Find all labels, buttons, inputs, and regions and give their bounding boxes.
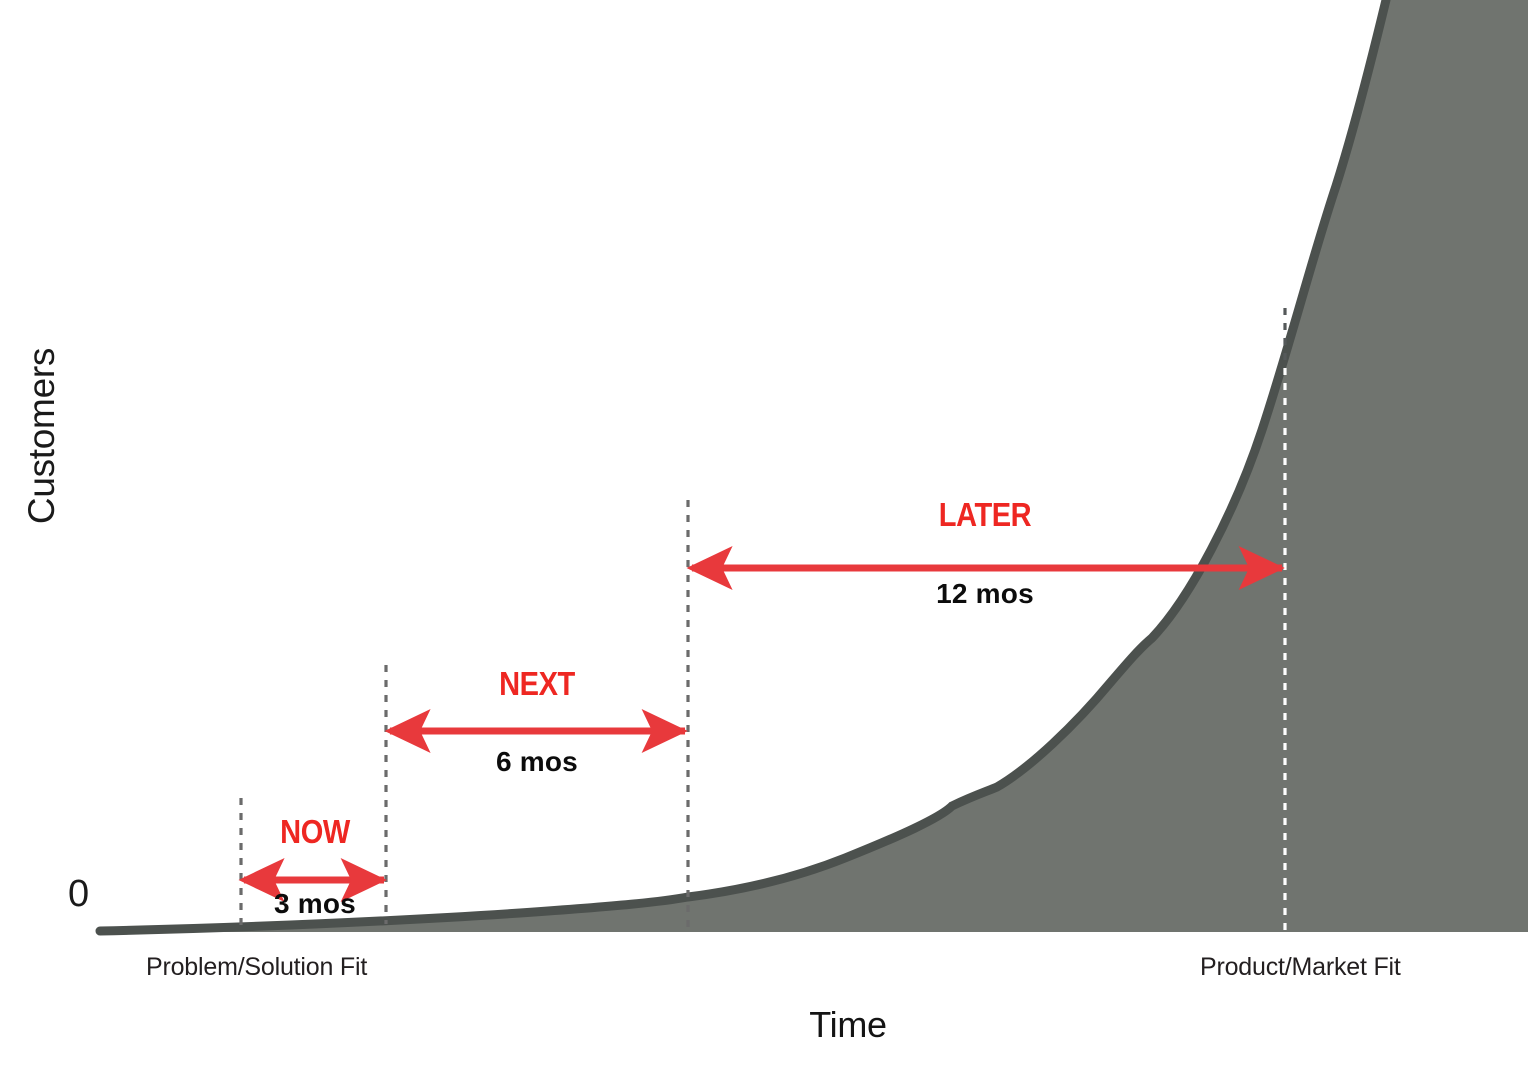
phase-title-next: NEXT xyxy=(449,665,625,703)
phase-title-later: LATER xyxy=(897,496,1073,534)
milestone-label-product-market-fit: Product/Market Fit xyxy=(1200,953,1401,982)
phase-title-now: NOW xyxy=(227,813,403,851)
y-axis-zero-tick: 0 xyxy=(68,873,89,916)
x-axis-label: Time xyxy=(748,1004,948,1046)
phase-duration-later: 12 mos xyxy=(885,578,1085,610)
phase-duration-now: 3 mos xyxy=(215,888,415,920)
y-axis-label: Customers xyxy=(21,336,63,536)
milestone-label-problem-solution-fit: Problem/Solution Fit xyxy=(146,953,367,982)
growth-curve-area xyxy=(100,0,1528,932)
phase-duration-next: 6 mos xyxy=(437,746,637,778)
chart-canvas: Customers Time 0 Problem/Solution Fit Pr… xyxy=(0,0,1528,1076)
